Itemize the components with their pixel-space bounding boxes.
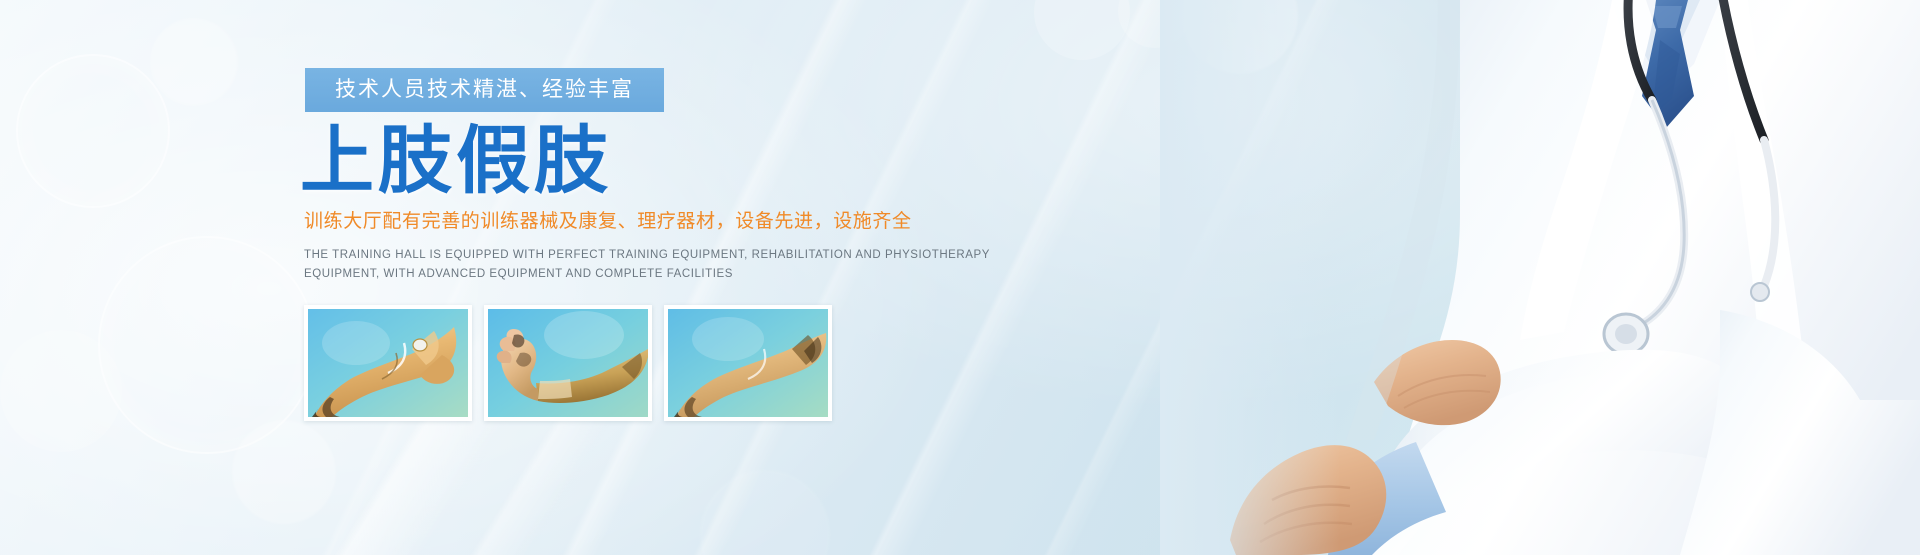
- product-thumbnail-list: [304, 305, 904, 421]
- bokeh-circle: [0, 330, 122, 452]
- bokeh-circle: [150, 18, 238, 106]
- caption-line-2: EQUIPMENT, WITH ADVANCED EQUIPMENT AND C…: [304, 265, 809, 284]
- product-thumbnail-1[interactable]: [304, 305, 472, 421]
- bokeh-circle: [16, 54, 170, 208]
- banner-content: 技术人员技术精湛、经验丰富 上肢假肢 训练大厅配有完善的训练器械及康复、理疗器材…: [304, 68, 904, 421]
- caption-english: THE TRAINING HALL IS EQUIPPED WITH PERFE…: [304, 246, 809, 283]
- bokeh-circle: [98, 236, 316, 454]
- bokeh-circle: [1034, 0, 1130, 60]
- bokeh-circle: [232, 420, 336, 524]
- subtitle-chinese: 训练大厅配有完善的训练器械及康复、理疗器材，设备先进，设施齐全: [304, 209, 904, 235]
- caption-line-1: THE TRAINING HALL IS EQUIPPED WITH PERFE…: [304, 246, 809, 265]
- upper-limb-prosthesis-banner: 技术人员技术精湛、经验丰富 上肢假肢 训练大厅配有完善的训练器械及康复、理疗器材…: [0, 0, 1920, 555]
- doctor-with-stethoscope-figure: [1160, 0, 1920, 555]
- product-thumbnail-3[interactable]: [664, 305, 832, 421]
- product-thumbnail-2[interactable]: [484, 305, 652, 421]
- tagline-badge: 技术人员技术精湛、经验丰富: [305, 68, 664, 112]
- page-title: 上肢假肢: [300, 124, 904, 199]
- bokeh-circle: [700, 470, 830, 555]
